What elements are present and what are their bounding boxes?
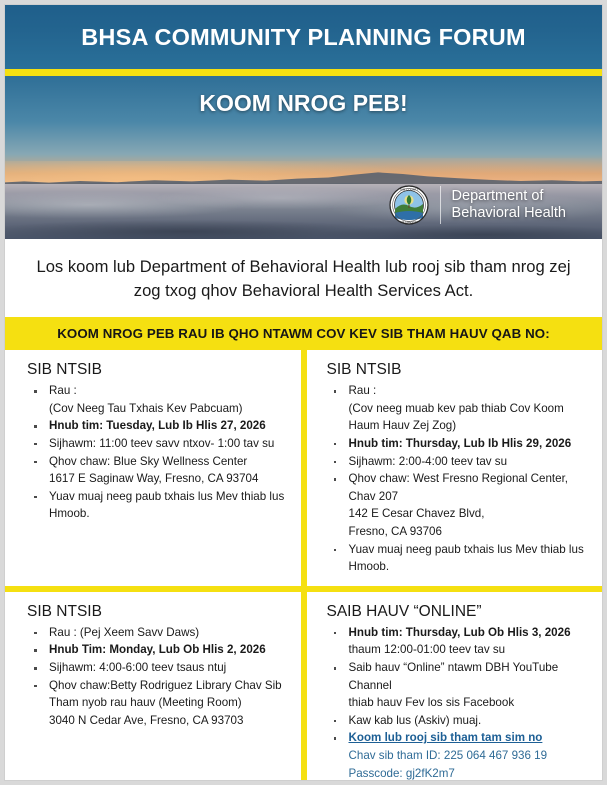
hero-logo-label: Department of Behavioral Health — [452, 188, 566, 221]
svg-text:THE COUNTY: THE COUNTY — [399, 188, 419, 192]
list-item: Yuav muaj neeg paub txhais lus Mev thiab… — [327, 541, 593, 576]
passcode-value: gj2fK2m7 — [406, 767, 455, 780]
meetings-grid: SIB NTSIB Rau : (Cov Neeg Tau Txhais Kev… — [5, 350, 602, 781]
page-title: BHSA COMMUNITY PLANNING FORUM — [81, 24, 525, 51]
list-item: Kaw kab lus (Askiv) muaj. — [327, 712, 593, 730]
list-item: Yuav muaj neeg paub txhais lus Mev thiab… — [27, 488, 287, 523]
list-item: Hnub tim: Thursday, Lub Ib Hlis 29, 2026 — [327, 435, 593, 453]
meeting-card-3: SIB NTSIB Rau : (Pej Xeem Savv Daws) Hnu… — [5, 592, 301, 781]
hero-subtitle: KOOM NROG PEB! — [5, 90, 602, 117]
list-item: Rau : (Pej Xeem Savv Daws) — [27, 624, 287, 642]
list-item: Qhov chaw: West Fresno Regional Center, … — [327, 470, 593, 505]
logo-divider — [440, 186, 441, 224]
header-yellow-divider — [5, 69, 602, 76]
call-to-action-banner: KOOM NROG PEB RAU IB QHO NTAWM COV KEV S… — [5, 317, 602, 350]
list-item: Hnub Tim: Monday, Lub Ob Hlis 2, 2026 — [27, 641, 287, 659]
meeting-card-2-title: SIB NTSIB — [327, 361, 593, 379]
online-meeting-card: SAIB HAUV “ONLINE” Hnub tim: Thursday, L… — [307, 592, 603, 781]
list-item: 142 E Cesar Chavez Blvd, — [327, 505, 593, 523]
list-item: Tham nyob rau hauv (Meeting Room) — [27, 694, 287, 712]
passcode-label: Passcode: — [349, 767, 403, 780]
list-item: Hnub tim: Thursday, Lub Ob Hlis 3, 2026 — [327, 624, 593, 642]
list-item: Sijhawm: 2:00-4:00 teev tav su — [327, 453, 593, 471]
list-item: Hnub tim: Tuesday, Lub Ib Hlis 27, 2026 — [27, 417, 287, 435]
meeting-card-1-items: Rau : (Cov Neeg Tau Txhais Kev Pabcuam) … — [27, 382, 287, 523]
list-item: (Cov neeg muab kev pab thiab Cov Koom Ha… — [327, 400, 593, 435]
list-item: (Cov Neeg Tau Txhais Kev Pabcuam) — [27, 400, 287, 418]
header-band: BHSA COMMUNITY PLANNING FORUM — [5, 5, 602, 69]
meeting-id-row: Chav sib tham ID: 225 064 467 936 19 — [349, 747, 593, 765]
flyer-page: BHSA COMMUNITY PLANNING FORUM KOOM NROG … — [4, 4, 603, 781]
list-item: Qhov chaw: Blue Sky Wellness Center — [27, 453, 287, 471]
list-item: thaum 12:00-01:00 teev tav su — [327, 641, 593, 659]
hero-dbh-logo: THE COUNTY OF FRESNO Department of Behav… — [389, 185, 566, 225]
join-meeting-link[interactable]: Koom lub rooj sib tham tam sim no — [349, 731, 543, 744]
hero-logo-line1: Department of — [452, 188, 544, 204]
svg-text:OF FRESNO: OF FRESNO — [400, 220, 418, 224]
online-meeting-items: Hnub tim: Thursday, Lub Ob Hlis 3, 2026 … — [327, 624, 593, 781]
passcode-row: Passcode: gj2fK2m7 — [349, 765, 593, 781]
meeting-card-1-title: SIB NTSIB — [27, 361, 287, 379]
meeting-card-3-title: SIB NTSIB — [27, 603, 287, 621]
meeting-card-3-items: Rau : (Pej Xeem Savv Daws) Hnub Tim: Mon… — [27, 624, 287, 730]
list-item: Sijhawm: 11:00 teev savv ntxov- 1:00 tav… — [27, 435, 287, 453]
online-meeting-title: SAIB HAUV “ONLINE” — [327, 603, 593, 621]
fresno-county-seal-icon: THE COUNTY OF FRESNO — [389, 185, 429, 225]
list-item: Saib hauv “Online” ntawm DBH YouTube Cha… — [327, 659, 593, 694]
intro-text: Los koom lub Department of Behavioral He… — [5, 239, 602, 317]
list-item: 1617 E Saginaw Way, Fresno, CA 93704 — [27, 470, 287, 488]
list-item: Fresno, CA 93706 — [327, 523, 593, 541]
list-item: Rau : — [327, 382, 593, 400]
meeting-id-label: Chav sib tham ID: — [349, 749, 441, 762]
meeting-card-2-items: Rau : (Cov neeg muab kev pab thiab Cov K… — [327, 382, 593, 576]
list-item: Rau : — [27, 382, 287, 400]
list-item: 3040 N Cedar Ave, Fresno, CA 93703 — [27, 712, 287, 730]
meeting-card-2: SIB NTSIB Rau : (Cov neeg muab kev pab t… — [307, 350, 603, 586]
list-item: Sijhawm: 4:00-6:00 teev tsaus ntuj — [27, 659, 287, 677]
hero-logo-line2: Behavioral Health — [452, 205, 566, 221]
list-item: Qhov chaw:Betty Rodriguez Library Chav S… — [27, 677, 287, 695]
meeting-card-1: SIB NTSIB Rau : (Cov Neeg Tau Txhais Kev… — [5, 350, 301, 586]
meeting-id-value: 225 064 467 936 19 — [444, 749, 547, 762]
list-item-join[interactable]: Koom lub rooj sib tham tam sim no Chav s… — [327, 729, 593, 781]
list-item: thiab hauv Fev los sis Facebook — [327, 694, 593, 712]
hero-banner: KOOM NROG PEB! THE COUNTY OF FRESNO — [5, 76, 602, 239]
